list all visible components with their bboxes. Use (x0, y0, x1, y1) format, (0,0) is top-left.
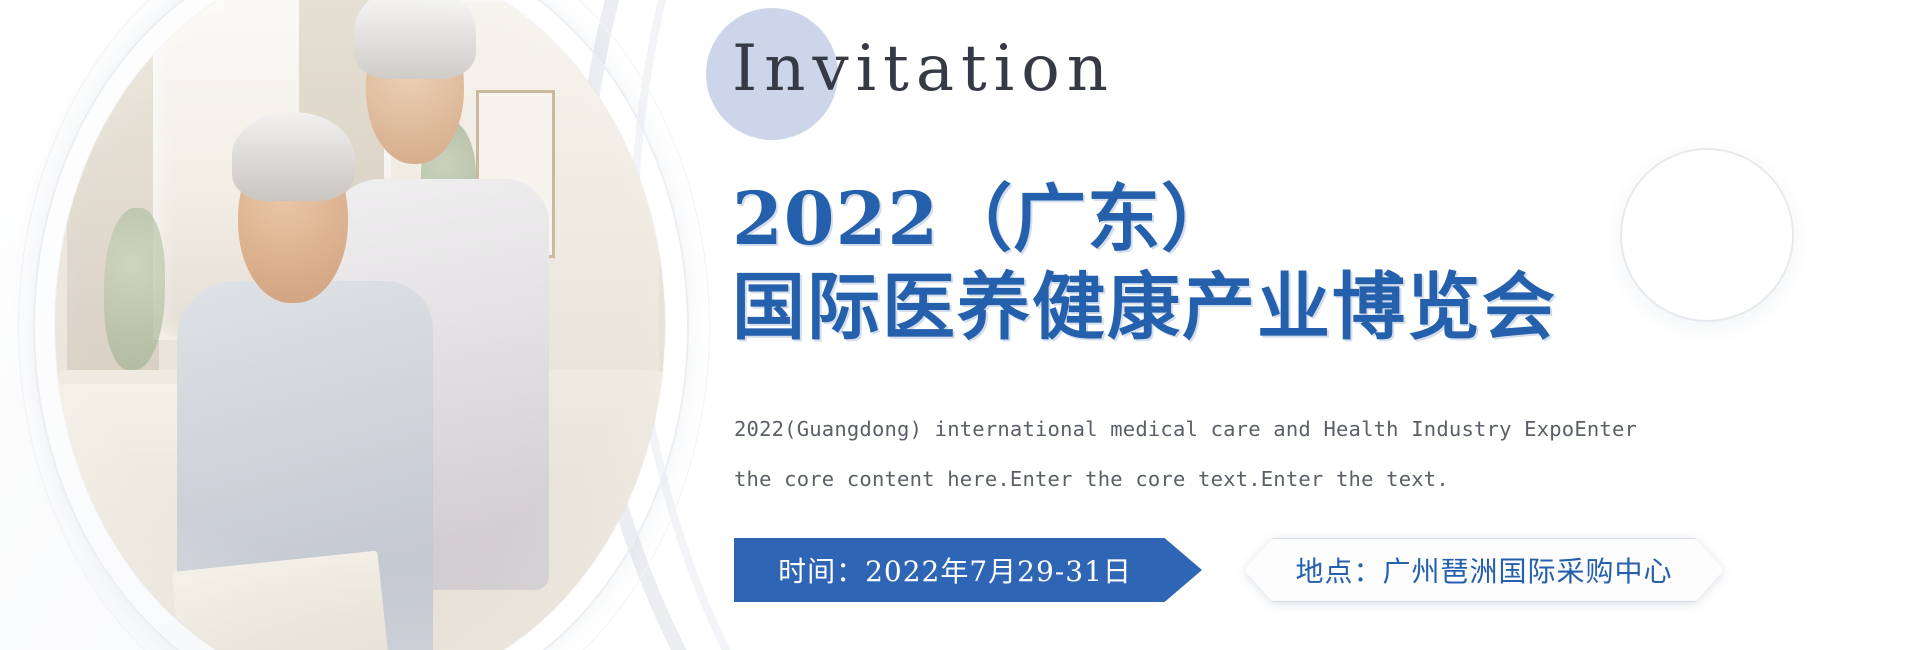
badge-place-wrapper: 地点：广州琶洲国际采购中心 (1244, 538, 1724, 602)
badge-place: 地点：广州琶洲国际采购中心 (1244, 538, 1724, 602)
subtitle-line-1: 2022(Guangdong) international medical ca… (734, 404, 1814, 454)
photo-circle (55, 0, 665, 650)
subtitle-line-2: the core content here.Enter the core tex… (734, 454, 1814, 504)
page-title-line-2: 国际医养健康产业博览会 (732, 248, 1557, 354)
badge-time: 时间：2022年7月29-31日 (734, 538, 1202, 602)
badge-row: 时间：2022年7月29-31日 地点：广州琶洲国际采购中心 (734, 538, 1724, 602)
elderly-couple-photo (55, 0, 665, 650)
eyebrow-invitation: Invitation (732, 32, 1115, 106)
banner-content: Invitation 2022（广东） 国际医养健康产业博览会 2022(Gua… (732, 0, 1892, 650)
photo-vignette (55, 0, 665, 650)
invitation-banner: Invitation 2022（广东） 国际医养健康产业博览会 2022(Gua… (0, 0, 1920, 650)
subtitle-block: 2022(Guangdong) international medical ca… (734, 404, 1814, 504)
